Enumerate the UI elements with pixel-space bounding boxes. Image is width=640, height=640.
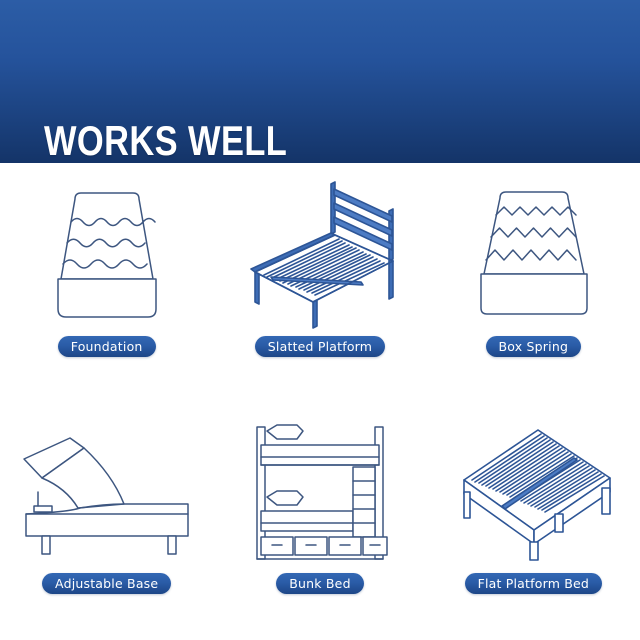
base-label-flat-platform-bed[interactable]: Flat Platform Bed [465, 573, 603, 594]
flat-platform-bed-illustration [427, 418, 640, 566]
base-label-bunk-bed[interactable]: Bunk Bed [276, 573, 363, 594]
bases-grid: Foundation [0, 163, 640, 640]
page-title: WORKS WELL WITH THESE BASES [44, 26, 391, 163]
foundation-illustration [0, 177, 213, 329]
base-label-box-spring[interactable]: Box Spring [486, 336, 582, 357]
base-card-foundation[interactable]: Foundation [0, 163, 213, 402]
base-card-slatted-platform[interactable]: Slatted Platform [213, 163, 426, 402]
box-spring-illustration [427, 177, 640, 329]
page-title-line-1: WORKS WELL [44, 118, 391, 163]
adjustable-base-illustration [0, 418, 213, 566]
base-label-foundation[interactable]: Foundation [58, 336, 156, 357]
base-label-adjustable-base[interactable]: Adjustable Base [42, 573, 171, 594]
base-card-box-spring[interactable]: Box Spring [427, 163, 640, 402]
infographic-page: WORKS WELL WITH THESE BASES Foundation [0, 0, 640, 640]
slatted-platform-illustration [213, 177, 426, 329]
header-banner: WORKS WELL WITH THESE BASES [0, 0, 640, 163]
base-label-slatted-platform[interactable]: Slatted Platform [255, 336, 385, 357]
base-card-adjustable-base[interactable]: Adjustable Base [0, 402, 213, 640]
base-card-flat-platform-bed[interactable]: Flat Platform Bed [427, 402, 640, 640]
base-card-bunk-bed[interactable]: Bunk Bed [213, 402, 426, 640]
bunk-bed-illustration [213, 418, 426, 566]
